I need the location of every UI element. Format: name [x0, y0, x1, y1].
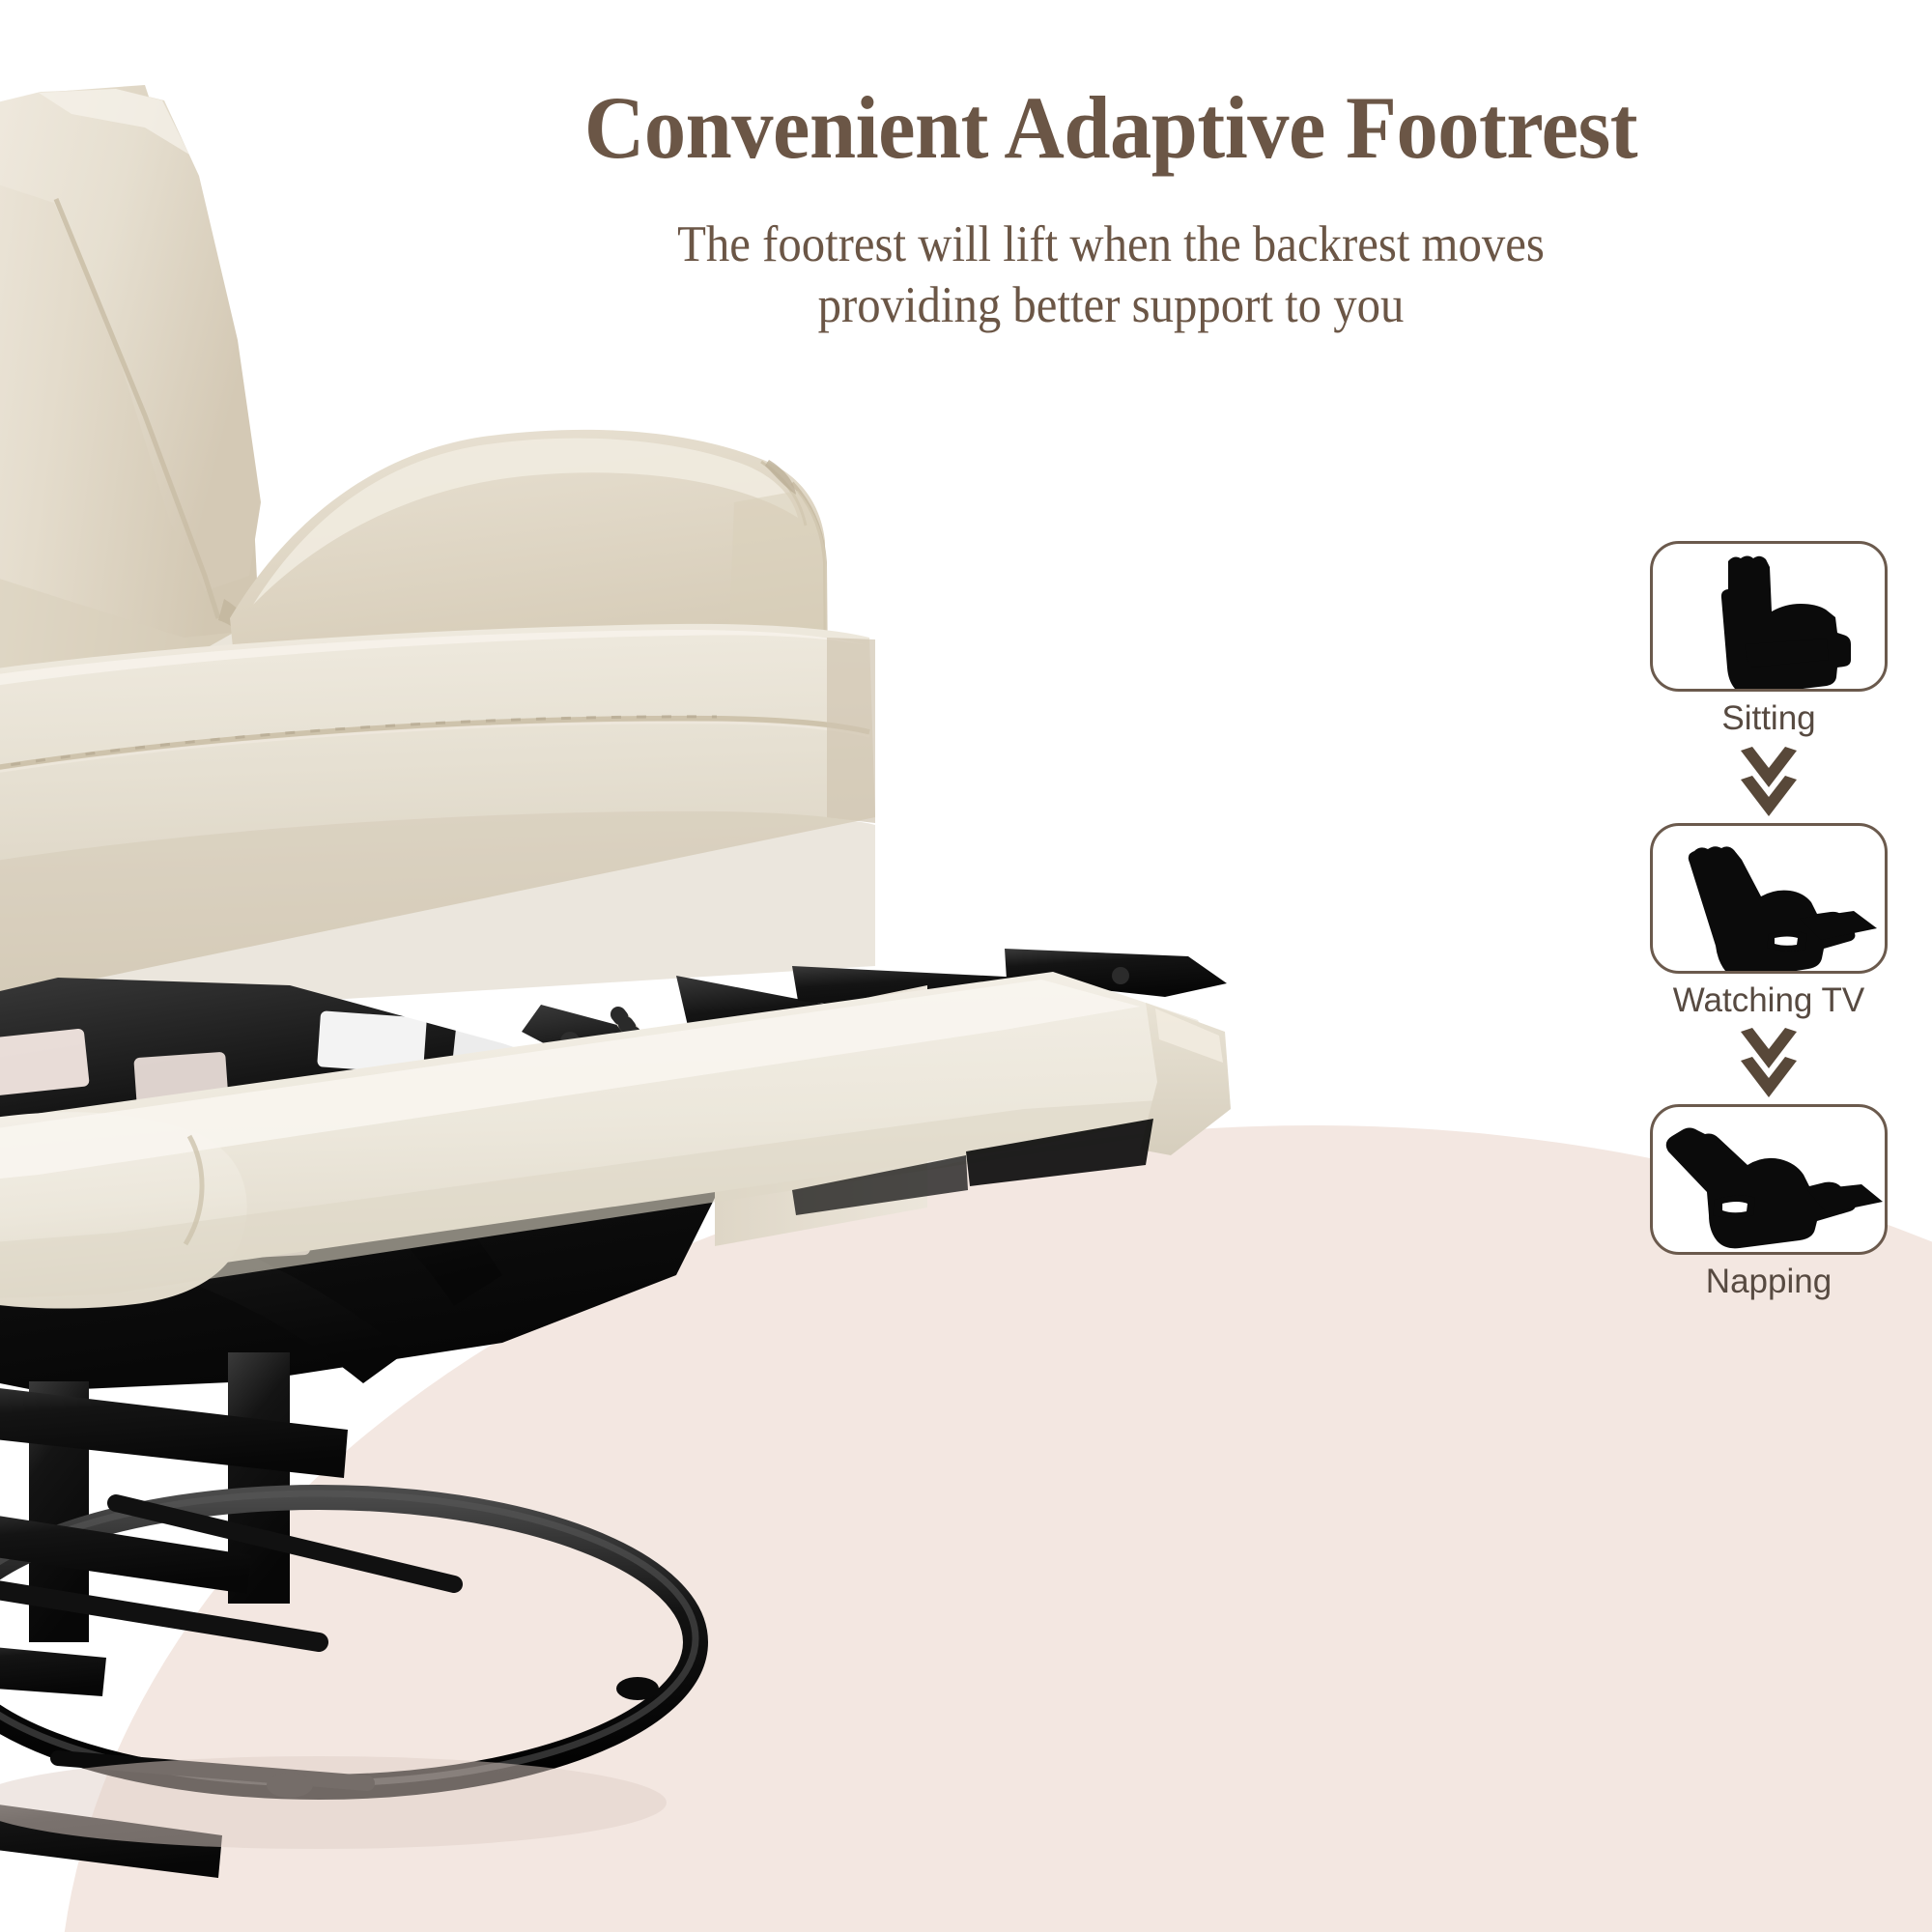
recliner-partially-reclined-icon: [1653, 826, 1885, 971]
product-feature-banner: Convenient Adaptive Footrest The footres…: [0, 0, 1932, 1932]
icon-box-sitting: [1650, 541, 1888, 692]
arrow-sitting-to-tv: [1642, 744, 1895, 819]
step-label-watching-tv: Watching TV: [1642, 982, 1895, 1020]
step-label-sitting: Sitting: [1642, 700, 1895, 738]
backrest-cushion: [0, 85, 261, 678]
double-chevron-down-icon: [1735, 747, 1803, 816]
page-title: Convenient Adaptive Footrest: [339, 83, 1883, 174]
step-watching-tv: Watching TV: [1642, 823, 1895, 1020]
headline-block: Convenient Adaptive Footrest The footres…: [290, 83, 1932, 337]
double-chevron-down-icon: [1735, 1028, 1803, 1097]
arrow-tv-to-napping: [1642, 1025, 1895, 1100]
icon-box-watching-tv: [1650, 823, 1888, 974]
step-label-napping: Napping: [1642, 1264, 1895, 1301]
page-subtitle: The footrest will lift when the backrest…: [355, 214, 1866, 337]
subtitle-line-2: providing better support to you: [355, 275, 1866, 337]
recliner-fully-reclined-icon: [1653, 1107, 1885, 1252]
recliner-upright-icon: [1653, 544, 1885, 689]
position-steps-rail: Sitting Watching TV: [1642, 541, 1895, 1301]
seat-cushion: [0, 624, 875, 1024]
subtitle-line-1: The footrest will lift when the backrest…: [355, 214, 1866, 276]
icon-box-napping: [1650, 1104, 1888, 1255]
step-napping: Napping: [1642, 1104, 1895, 1301]
step-sitting: Sitting: [1642, 541, 1895, 738]
